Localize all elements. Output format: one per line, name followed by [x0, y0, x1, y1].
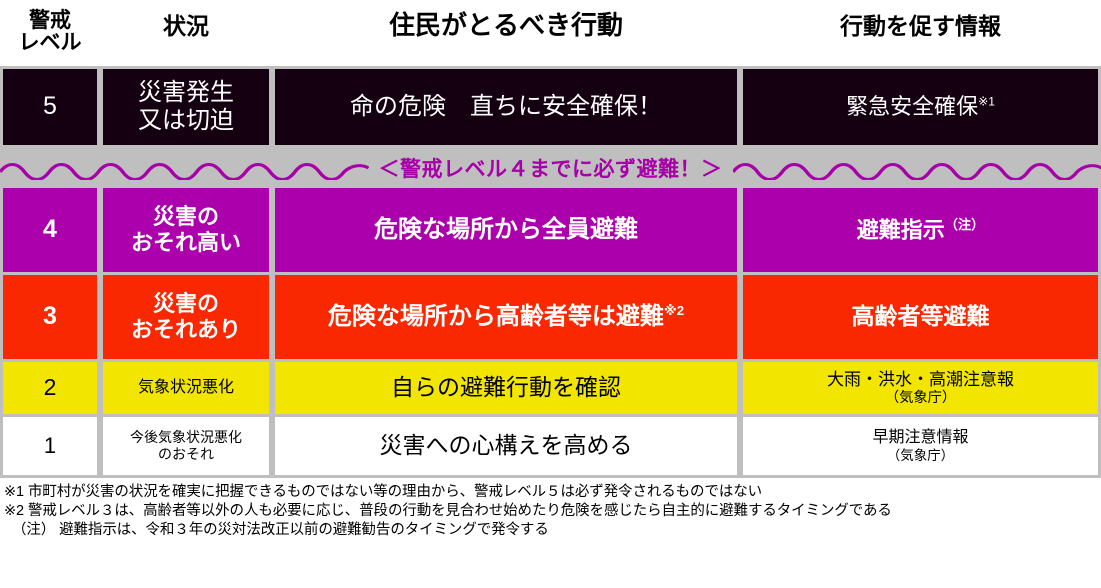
information-cell: 高齢者等避難 — [743, 275, 1098, 359]
table-row-level-2: 2 気象状況悪化 自らの避難行動を確認 大雨・洪水・高潮注意報 （気象庁） — [0, 362, 1101, 417]
table-row-level-4: 4 災害の おそれ高い 危険な場所から全員避難 避難指示（注） — [0, 188, 1101, 275]
situation-line-2: 又は切迫 — [138, 107, 234, 135]
situation-line-1: 災害発生 — [138, 79, 234, 107]
wavy-line-right-icon — [733, 156, 1101, 180]
evacuate-by-level-4-band: ＜警戒レベル４までに必ず避難！＞ — [0, 148, 1101, 188]
footnote-2: ※2 警戒レベル３は、高齢者等以外の人も必要に応じ、普段の行動を見合わせ始めたり… — [4, 502, 1101, 521]
column-header-warning-level-line2: レベル — [19, 32, 82, 54]
situation-line-1: 災害の — [153, 204, 219, 230]
alert-level-table: 5 災害発生 又は切迫 命の危険 直ちに安全確保！ 緊急安全確保※1 ＜警戒レベ… — [0, 66, 1101, 478]
level-number: 2 — [3, 362, 97, 414]
footnote-note: （注） 避難指示は、令和３年の災対法改正以前の避難勧告のタイミングで発令する — [4, 521, 1101, 540]
footnote-marker: ※2 — [664, 303, 684, 318]
column-header-warning-level: 警戒 レベル — [0, 0, 100, 66]
wavy-line-left-icon — [0, 156, 369, 180]
column-header-situation: 状況 — [100, 0, 272, 66]
column-header-triggering-information: 行動を促す情報 — [740, 0, 1101, 66]
evacuate-by-level-4-text: ＜警戒レベル４までに必ず避難！＞ — [369, 153, 733, 183]
situation-line-1: 災害の — [153, 291, 219, 317]
footnote-marker: （注） — [945, 217, 985, 232]
information-cell: 緊急安全確保※1 — [743, 69, 1098, 145]
alert-level-table-figure: 警戒 レベル 状況 住民がとるべき行動 行動を促す情報 5 災害発生 又は切迫 … — [0, 0, 1101, 588]
information-source: （気象庁） — [885, 390, 956, 407]
situation-line-2: のおそれ — [158, 446, 214, 463]
column-header-resident-action: 住民がとるべき行動 — [272, 0, 740, 66]
information-label: 緊急安全確保 — [846, 94, 978, 119]
information-label: 避難指示 — [857, 217, 945, 242]
resident-action-cell: 命の危険 直ちに安全確保！ — [275, 69, 737, 145]
resident-action-cell: 危険な場所から高齢者等は避難※2 — [275, 275, 737, 359]
table-row-level-3: 3 災害の おそれあり 危険な場所から高齢者等は避難※2 高齢者等避難 — [0, 275, 1101, 362]
situation-cell: 災害発生 又は切迫 — [103, 69, 269, 145]
resident-action-cell: 危険な場所から全員避難 — [275, 188, 737, 272]
situation-cell: 災害の おそれあり — [103, 275, 269, 359]
situation-line-2: おそれ高い — [131, 230, 241, 256]
table-row-level-1: 1 今後気象状況悪化 のおそれ 災害への心構えを高める 早期注意情報 （気象庁） — [0, 417, 1101, 478]
resident-action-label: 危険な場所から高齢者等は避難 — [328, 303, 664, 330]
situation-cell: 気象状況悪化 — [103, 362, 269, 414]
resident-action-cell: 災害への心構えを高める — [275, 417, 737, 475]
table-row-level-5: 5 災害発生 又は切迫 命の危険 直ちに安全確保！ 緊急安全確保※1 — [0, 69, 1101, 148]
footnote-marker: ※1 — [978, 95, 995, 109]
level-number: 3 — [3, 275, 97, 359]
situation-cell: 今後気象状況悪化 のおそれ — [103, 417, 269, 475]
situation-line-1: 今後気象状況悪化 — [130, 429, 242, 446]
information-cell: 早期注意情報 （気象庁） — [743, 417, 1098, 475]
table-header-row: 警戒 レベル 状況 住民がとるべき行動 行動を促す情報 — [0, 0, 1101, 66]
information-label: 早期注意情報 — [872, 429, 968, 448]
footnote-1: ※1 市町村が災害の状況を確実に把握できるものではない等の理由から、警戒レベル５… — [4, 483, 1101, 502]
situation-cell: 災害の おそれ高い — [103, 188, 269, 272]
column-header-warning-level-line1: 警戒 — [29, 10, 71, 32]
situation-line-2: おそれあり — [131, 317, 241, 343]
information-cell: 避難指示（注） — [743, 188, 1098, 272]
level-number: 4 — [3, 188, 97, 272]
footnotes: ※1 市町村が災害の状況を確実に把握できるものではない等の理由から、警戒レベル５… — [0, 478, 1101, 540]
information-cell: 大雨・洪水・高潮注意報 （気象庁） — [743, 362, 1098, 414]
information-source: （気象庁） — [887, 448, 954, 464]
level-number: 5 — [3, 69, 97, 145]
information-label: 大雨・洪水・高潮注意報 — [827, 370, 1014, 390]
level-number: 1 — [3, 417, 97, 475]
resident-action-cell: 自らの避難行動を確認 — [275, 362, 737, 414]
